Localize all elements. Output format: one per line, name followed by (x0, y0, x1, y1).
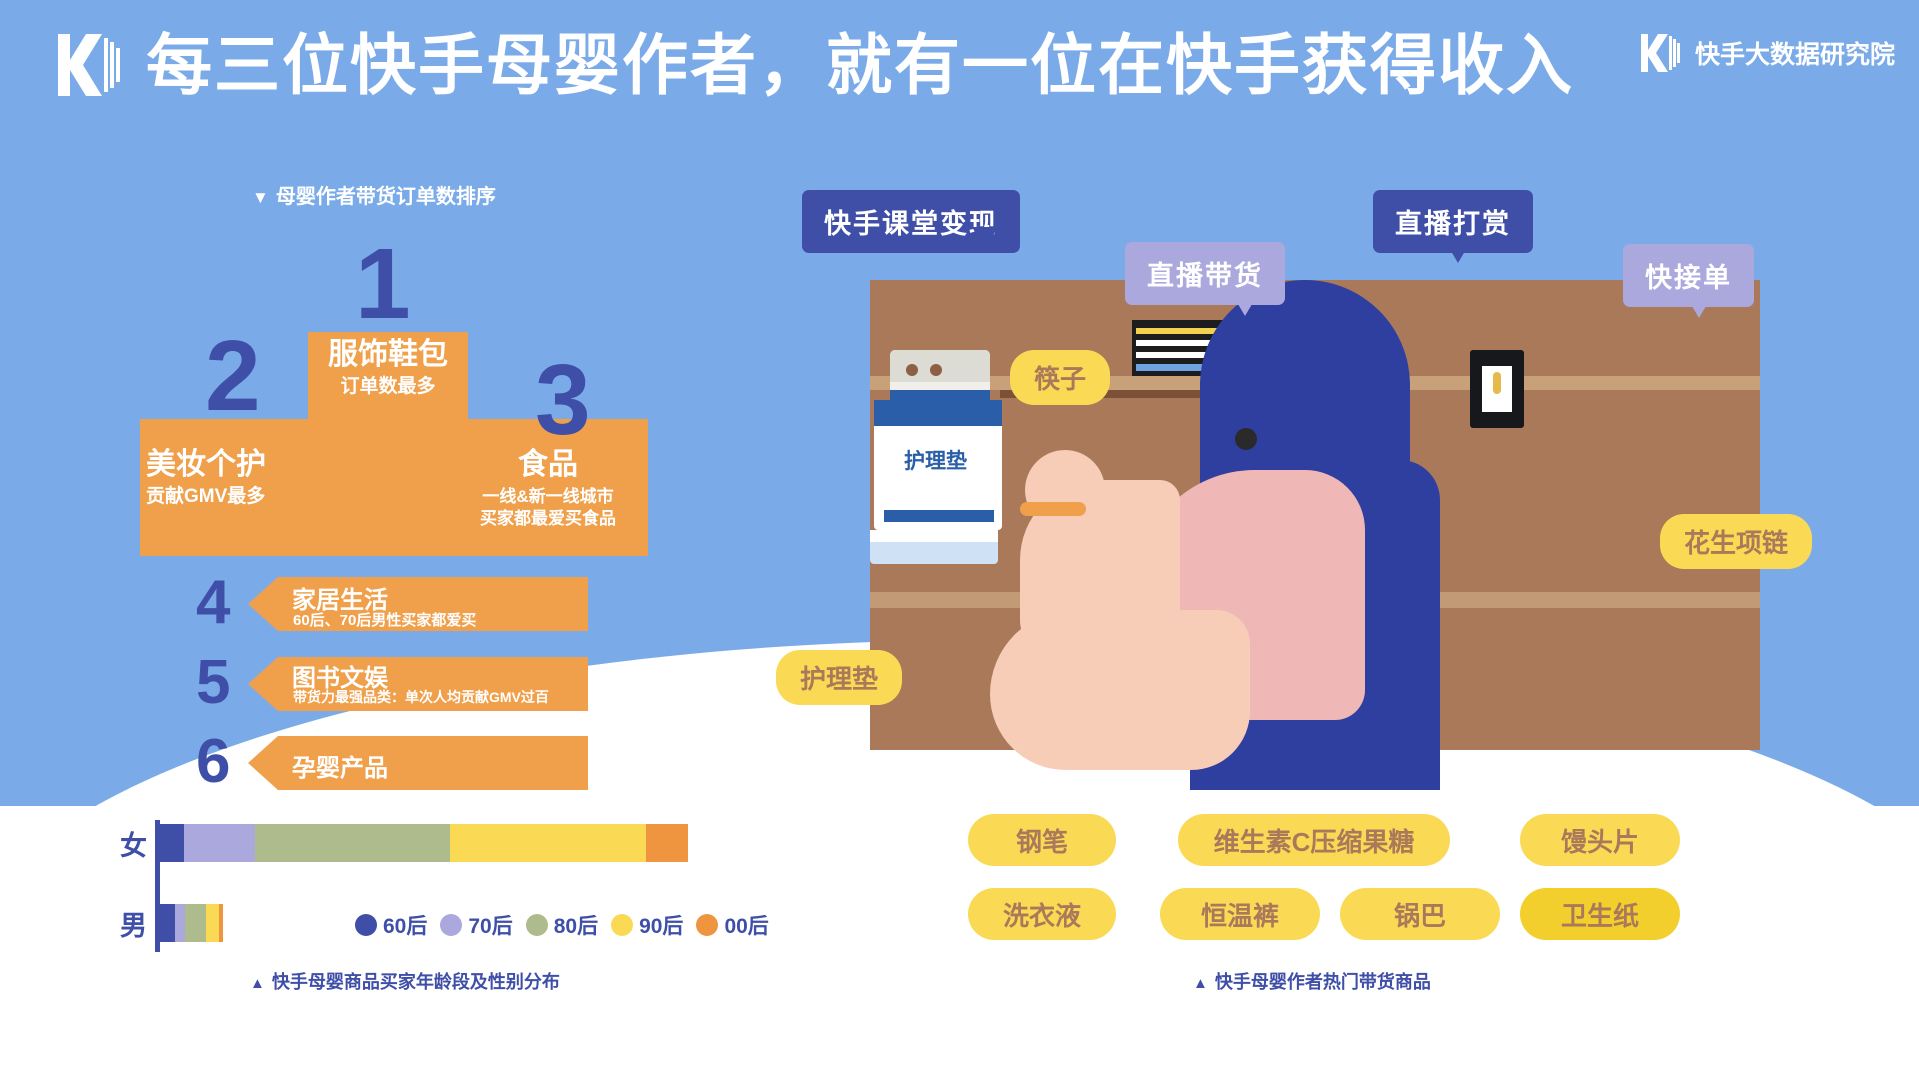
triangle-up-icon-left: ▲ (250, 975, 265, 992)
care-pad-band-bottom (884, 510, 994, 522)
chart-caption-left-text: 快手母婴商品买家年龄段及性别分布 (272, 972, 560, 992)
arrow-tip-4 (248, 577, 278, 631)
chart-segment-90后 (206, 904, 218, 942)
page-title: 每三位快手母婴作者，就有一位在快手获得收入 (146, 28, 1574, 102)
legend-item-80后: 80后 (526, 910, 598, 940)
chart-caption-right: ▲快手母婴作者热门带货商品 (1193, 968, 1431, 994)
podium-sub-3-line2: 买家都最爱买食品 (450, 508, 646, 530)
chart-legend: 60后70后80后90后00后 (355, 910, 769, 940)
product-chip-bread-chip[interactable]: 馒头片 (1520, 814, 1680, 866)
chart-row-label-female: 女 (120, 824, 147, 863)
legend-dot-icon (696, 914, 718, 936)
bubble-tail-1 (972, 227, 998, 249)
brand: 快手大数据研究院 (1637, 30, 1895, 76)
legend-dot-icon (611, 914, 633, 936)
wipes-stack-2 (870, 530, 998, 542)
product-chip-detergent[interactable]: 洗衣液 (968, 888, 1116, 940)
illustration-label-chopsticks: 筷子 (1010, 350, 1110, 405)
podium-title-1: 服饰鞋包 (308, 338, 468, 371)
illustration-label-care-pad: 护理垫 (776, 650, 902, 705)
care-pad-band-top (874, 400, 1002, 426)
product-chip-vitamin-c[interactable]: 维生素C压缩果糖 (1178, 814, 1450, 866)
kuaishou-logo-icon (52, 28, 126, 102)
chart-row-label-male: 男 (120, 904, 147, 943)
podium-sub-2: 贡献GMV最多 (146, 485, 391, 509)
rank-number-3: 3 (535, 350, 591, 450)
triangle-down-icon: ▼ (252, 188, 269, 207)
left-panel-caption: ▼母婴作者带货订单数排序 (252, 180, 496, 209)
podium-label-3: 食品 一线&新一线城市 买家都最爱买食品 (450, 448, 646, 530)
arrow-tip-5 (248, 657, 278, 711)
product-chip-tissue[interactable]: 卫生纸 (1520, 888, 1680, 940)
podium-title-2: 美妆个护 (146, 448, 391, 481)
legend-item-60后: 60后 (355, 910, 427, 940)
chart-caption-left: ▲快手母婴商品买家年龄段及性别分布 (250, 968, 560, 994)
brand-text: 快手大数据研究院 (1695, 35, 1895, 71)
chart-caption-right-text: 快手母婴作者热门带货商品 (1215, 972, 1431, 992)
left-panel-caption-text: 母婴作者带货订单数排序 (276, 186, 496, 208)
rank-number-2: 2 (205, 326, 261, 426)
infographic-canvas: 每三位快手母婴作者，就有一位在快手获得收入 快手大数据研究院 ▼母婴作者带货订单… (0, 0, 1919, 1080)
bubble-tail-3 (1445, 241, 1471, 263)
care-pad-package-label: 护理垫 (890, 440, 981, 480)
bubble-tail-4 (1686, 296, 1712, 318)
arrow-bar-title-6: 孕婴产品 (292, 748, 388, 783)
illustration-label-peanut-necklace: 花生项链 (1660, 514, 1812, 569)
chart-segment-90后 (450, 824, 645, 862)
rank-number-5: 5 (196, 652, 230, 714)
product-chip-warm-pants[interactable]: 恒温裤 (1160, 888, 1320, 940)
chart-segment-00后 (219, 904, 224, 942)
legend-label: 70后 (468, 910, 512, 940)
legend-item-70后: 70后 (440, 910, 512, 940)
legend-label: 60后 (383, 910, 427, 940)
rank-number-4: 4 (196, 572, 230, 634)
kuaishou-brand-icon (1637, 30, 1683, 76)
header: 每三位快手母婴作者，就有一位在快手获得收入 快手大数据研究院 (0, 0, 1919, 128)
chart-segment-70后 (175, 904, 186, 942)
legend-item-90后: 90后 (611, 910, 683, 940)
product-chip-pen[interactable]: 钢笔 (968, 814, 1116, 866)
chart-segment-70后 (184, 824, 255, 862)
chart-segment-00后 (646, 824, 688, 862)
podium-title-3: 食品 (450, 448, 646, 481)
triangle-up-icon-right: ▲ (1193, 975, 1208, 992)
necklace-pendant (1493, 372, 1501, 394)
legend-label: 80后 (554, 910, 598, 940)
podium-sub-3-line1: 一线&新一线城市 (450, 486, 646, 508)
legend-dot-icon (355, 914, 377, 936)
arrow-tip-6 (248, 736, 278, 790)
chart-segment-80后 (185, 904, 206, 942)
product-chip-guoba[interactable]: 锅巴 (1340, 888, 1500, 940)
woman-earring (1235, 428, 1257, 450)
woman-hand (1025, 450, 1105, 530)
illustration: 护理垫 (870, 280, 1760, 750)
legend-item-00后: 00后 (696, 910, 768, 940)
legend-label: 90后 (639, 910, 683, 940)
legend-dot-icon (440, 914, 462, 936)
rank-number-6: 6 (196, 731, 230, 793)
product-dot-2 (930, 364, 942, 376)
woman-bracelet (1020, 502, 1086, 516)
legend-dot-icon (526, 914, 548, 936)
bubble-live-commerce: 直播带货 (1125, 242, 1285, 305)
legend-label: 00后 (724, 910, 768, 940)
arrow-bar-sub-4: 60后、70后男性买家都爱买 (293, 609, 476, 630)
product-dot-1 (906, 364, 918, 376)
chart-segment-80后 (255, 824, 450, 862)
chart-segment-60后 (160, 904, 175, 942)
rank-number-1: 1 (355, 234, 411, 334)
chart-bar-female (160, 824, 688, 862)
bubble-tail-2 (1232, 294, 1258, 316)
podium-label-1: 服饰鞋包 订单数最多 (308, 338, 468, 399)
chart-bar-male (160, 904, 223, 942)
arrow-bar-sub-5: 带货力最强品类：单次人均贡献GMV过百 (293, 687, 549, 707)
podium-sub-1: 订单数最多 (308, 375, 468, 399)
chart-segment-60后 (160, 824, 184, 862)
age-gender-chart: 女 男 60后70后80后90后00后 (120, 820, 680, 960)
podium-label-2: 美妆个护 贡献GMV最多 (146, 448, 391, 509)
woman-leg (990, 610, 1250, 770)
